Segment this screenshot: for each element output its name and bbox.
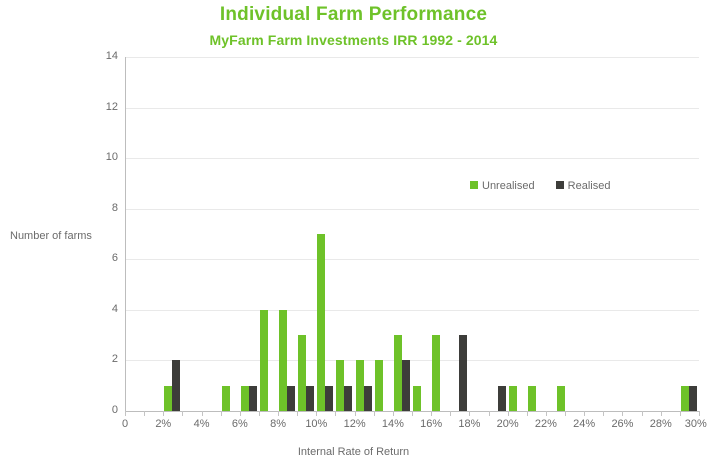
x-tick [680, 411, 681, 416]
x-tick [125, 411, 126, 416]
y-tick-label: 10 [78, 151, 118, 163]
x-tick [431, 411, 432, 416]
bar-unrealised [557, 386, 565, 411]
x-tick [508, 411, 509, 416]
x-tick [355, 411, 356, 416]
x-tick [182, 411, 183, 416]
bar-realised [364, 386, 372, 411]
legend-swatch-realised [556, 181, 564, 189]
y-tick-label: 0 [78, 404, 118, 416]
bar-realised [249, 386, 257, 411]
x-tick [316, 411, 317, 416]
x-axis-ticks [125, 411, 699, 417]
x-tick [450, 411, 451, 416]
x-tick [163, 411, 164, 416]
y-tick-label: 4 [78, 303, 118, 315]
x-tick [202, 411, 203, 416]
bar-unrealised [413, 386, 421, 411]
x-tick [412, 411, 413, 416]
x-tick [335, 411, 336, 416]
bar-unrealised [681, 386, 689, 411]
legend-item-realised[interactable]: Realised [556, 180, 611, 192]
bar-unrealised [432, 335, 440, 411]
chart-container: Individual Farm Performance MyFarm Farm … [0, 0, 707, 469]
legend: Unrealised Realised [470, 180, 628, 192]
chart-title: Individual Farm Performance [0, 4, 707, 26]
x-tick [469, 411, 470, 416]
y-tick-label: 14 [78, 50, 118, 62]
bar-realised [344, 386, 352, 411]
y-tick-label: 2 [78, 353, 118, 365]
bar-unrealised [509, 386, 517, 411]
x-tick [144, 411, 145, 416]
x-tick [393, 411, 394, 416]
bar-unrealised [336, 360, 344, 411]
bar-realised [459, 335, 467, 411]
bar-unrealised [164, 386, 172, 411]
y-tick-label: 6 [78, 252, 118, 264]
bar-unrealised [279, 310, 287, 411]
bar-unrealised [394, 335, 402, 411]
bar-realised [325, 386, 333, 411]
bar-series-group [125, 57, 699, 411]
x-tick [661, 411, 662, 416]
x-tick-label: 30%+ [669, 418, 707, 430]
y-tick-label: 12 [78, 101, 118, 113]
bar-unrealised [528, 386, 536, 411]
x-tick [259, 411, 260, 416]
bar-realised [306, 386, 314, 411]
legend-item-unrealised[interactable]: Unrealised [470, 180, 535, 192]
x-tick [221, 411, 222, 416]
x-tick [699, 411, 700, 416]
bar-realised [498, 386, 506, 411]
x-tick [603, 411, 604, 416]
bar-realised [287, 386, 295, 411]
x-tick [622, 411, 623, 416]
x-tick [297, 411, 298, 416]
x-axis-title: Internal Rate of Return [0, 446, 707, 458]
x-tick [642, 411, 643, 416]
bar-unrealised [241, 386, 249, 411]
bar-realised [689, 386, 697, 411]
legend-label-unrealised: Unrealised [482, 180, 535, 192]
bar-unrealised [356, 360, 364, 411]
x-tick [546, 411, 547, 416]
x-tick [240, 411, 241, 416]
x-tick [584, 411, 585, 416]
bar-unrealised [375, 360, 383, 411]
bar-unrealised [260, 310, 268, 411]
x-tick [489, 411, 490, 416]
x-tick [565, 411, 566, 416]
legend-swatch-unrealised [470, 181, 478, 189]
plot-area [125, 57, 699, 411]
bar-realised [402, 360, 410, 411]
x-tick [527, 411, 528, 416]
chart-subtitle: MyFarm Farm Investments IRR 1992 - 2014 [0, 32, 707, 48]
y-tick-label: 8 [78, 202, 118, 214]
x-tick [278, 411, 279, 416]
legend-label-realised: Realised [568, 180, 611, 192]
bar-realised [172, 360, 180, 411]
bar-unrealised [298, 335, 306, 411]
bar-unrealised [222, 386, 230, 411]
x-tick [374, 411, 375, 416]
bar-unrealised [317, 234, 325, 411]
